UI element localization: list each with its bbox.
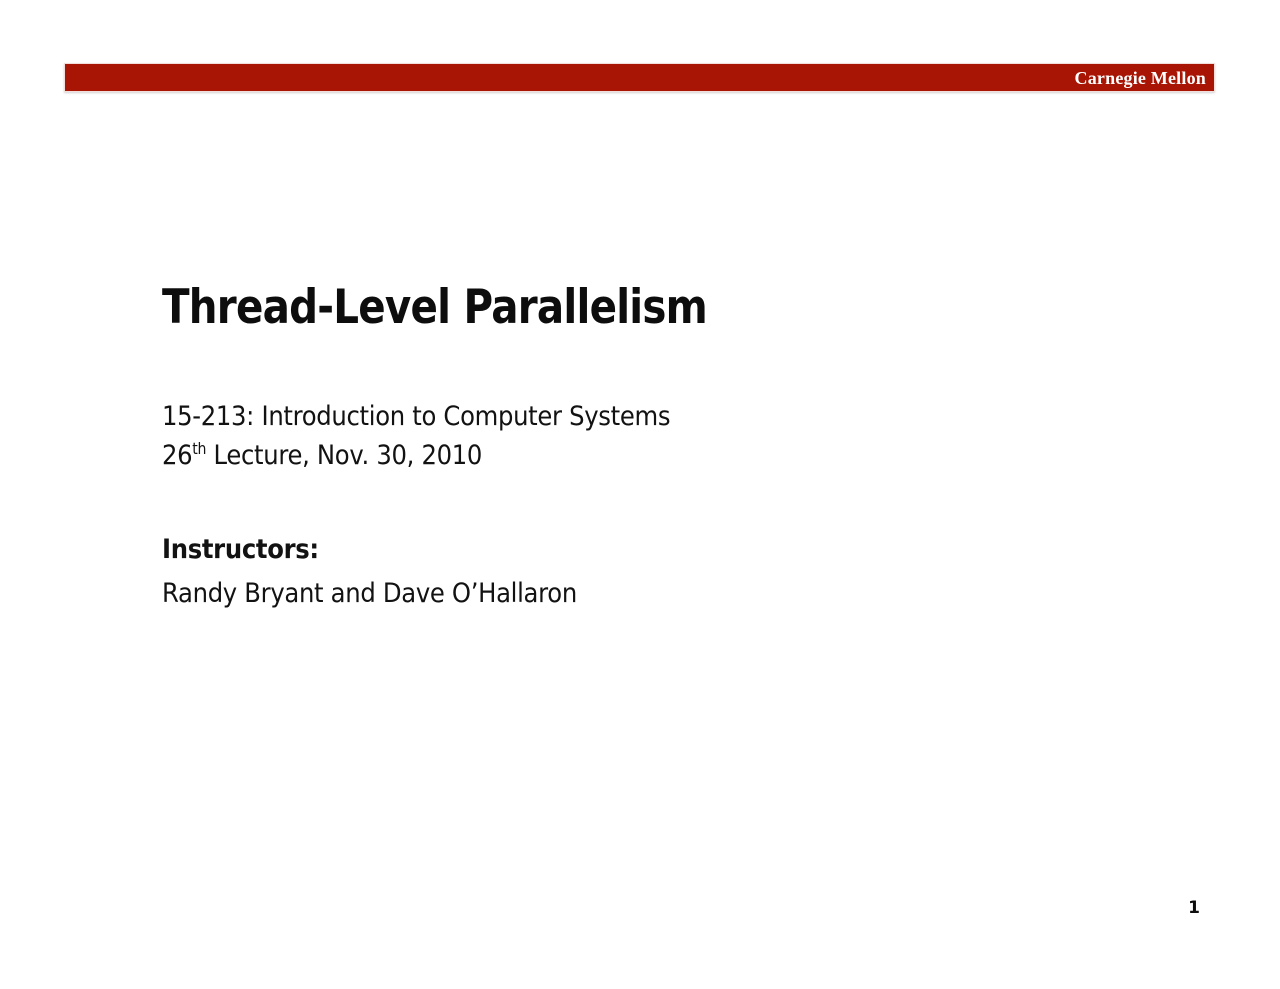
- instructors-block: Instructors: Randy Bryant and Dave O’Hal…: [162, 528, 1026, 615]
- slide-canvas: Carnegie Mellon Thread-Level Parallelism…: [0, 0, 1280, 989]
- course-line: 15-213: Introduction to Computer Systems: [162, 398, 1026, 436]
- carnegie-mellon-banner: Carnegie Mellon: [64, 63, 1215, 92]
- lecture-number: 26: [162, 440, 192, 471]
- institution-label: Carnegie Mellon: [1075, 69, 1206, 87]
- slide-content: Thread-Level Parallelism 15-213: Introdu…: [162, 283, 1122, 615]
- page-title: Thread-Level Parallelism: [162, 283, 988, 332]
- lecture-ordinal-suffix: th: [192, 439, 206, 458]
- subtitle-block: 15-213: Introduction to Computer Systems…: [162, 398, 1026, 475]
- lecture-line: 26th Lecture, Nov. 30, 2010: [162, 437, 1026, 475]
- instructors-heading: Instructors:: [162, 528, 1026, 572]
- lecture-date: Lecture, Nov. 30, 2010: [206, 440, 482, 471]
- page-number: 1: [1160, 900, 1200, 917]
- instructors-names: Randy Bryant and Dave O’Hallaron: [162, 572, 1026, 616]
